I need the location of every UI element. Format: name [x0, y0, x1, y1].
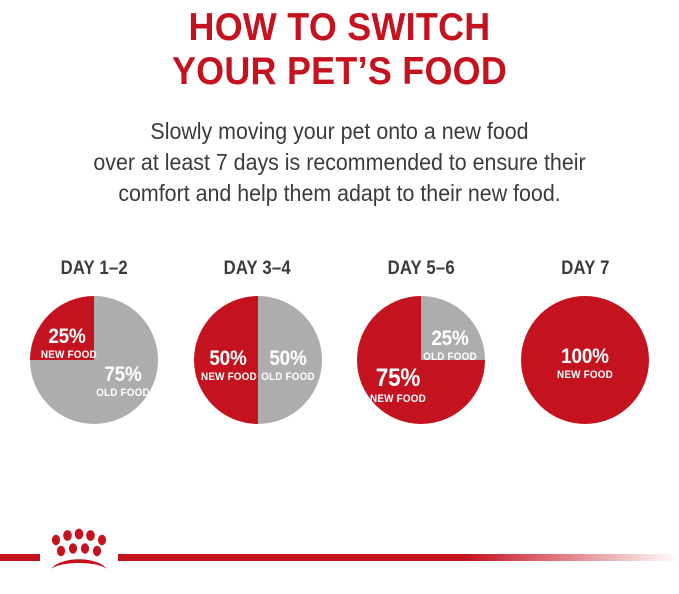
pie-chart-day-5-6: 25% OLD FOOD 75% NEW FOOD [357, 296, 485, 424]
footer-bar-left [0, 554, 40, 561]
footer [0, 526, 679, 572]
slice-label-new-food-4: 100% NEW FOOD [521, 346, 649, 381]
title-line-1: HOW TO SWITCH [27, 6, 652, 50]
slice-percent-old-2: 50% [261, 348, 315, 369]
footer-bar-right [118, 554, 679, 561]
day-label-3: DAY 5–6 [388, 258, 455, 280]
slice-label-new-food-1: 25% NEW FOOD [38, 326, 96, 361]
slice-label-new-food-2: 50% NEW FOOD [198, 348, 258, 383]
pie-chart-row: DAY 1–2 25% NEW FOOD 75% OLD FOOD DAY 3–… [0, 258, 679, 424]
page-title: HOW TO SWITCH YOUR PET’S FOOD [0, 0, 679, 94]
day-label-1: DAY 1–2 [60, 258, 127, 280]
slice-percent-new-4: 100% [527, 346, 642, 367]
slice-label-old-food-3: 25% OLD FOOD [419, 328, 481, 363]
slice-sublabel-old-3: OLD FOOD [422, 352, 478, 363]
pie-group-day-3-4: DAY 3–4 50% NEW FOOD 50% OLD FOOD [182, 258, 334, 424]
slice-percent-old-3: 25% [422, 328, 478, 349]
pie-group-day-1-2: DAY 1–2 25% NEW FOOD 75% OLD FOOD [18, 258, 170, 424]
intro-line-2: over at least 7 days is recommended to e… [24, 147, 655, 178]
intro-line-1: Slowly moving your pet onto a new food [24, 116, 655, 147]
slice-sublabel-old-2: OLD FOOD [261, 372, 315, 383]
slice-sublabel-new-1: NEW FOOD [41, 350, 93, 361]
slice-percent-new-2: 50% [201, 348, 255, 369]
intro-line-3: comfort and help them adapt to their new… [24, 178, 655, 209]
slice-sublabel-new-3: NEW FOOD [369, 394, 428, 405]
intro-paragraph: Slowly moving your pet onto a new food o… [0, 116, 679, 209]
pie-group-day-7: DAY 7 100% NEW FOOD [509, 258, 661, 424]
title-line-2: YOUR PET’S FOOD [27, 50, 652, 94]
pie-group-day-5-6: DAY 5–6 25% OLD FOOD 75% NEW FOOD [345, 258, 497, 424]
slice-percent-new-1: 25% [41, 326, 93, 347]
pie-chart-day-3-4: 50% NEW FOOD 50% OLD FOOD [194, 296, 322, 424]
slice-percent-old-1: 75% [95, 364, 151, 385]
day-label-4: DAY 7 [561, 258, 609, 280]
slice-label-new-food-3: 75% NEW FOOD [365, 366, 431, 405]
slice-label-old-food-2: 50% OLD FOOD [258, 348, 318, 383]
pie-chart-day-7: 100% NEW FOOD [521, 296, 649, 424]
slice-sublabel-new-4: NEW FOOD [527, 370, 642, 381]
pie-chart-day-1-2: 25% NEW FOOD 75% OLD FOOD [30, 296, 158, 424]
slice-sublabel-old-1: OLD FOOD [95, 388, 151, 399]
slice-sublabel-new-2: NEW FOOD [201, 372, 255, 383]
slice-label-old-food-1: 75% OLD FOOD [92, 364, 154, 399]
day-label-2: DAY 3–4 [224, 258, 291, 280]
crown-icon [45, 528, 113, 570]
slice-percent-new-3: 75% [369, 366, 428, 391]
